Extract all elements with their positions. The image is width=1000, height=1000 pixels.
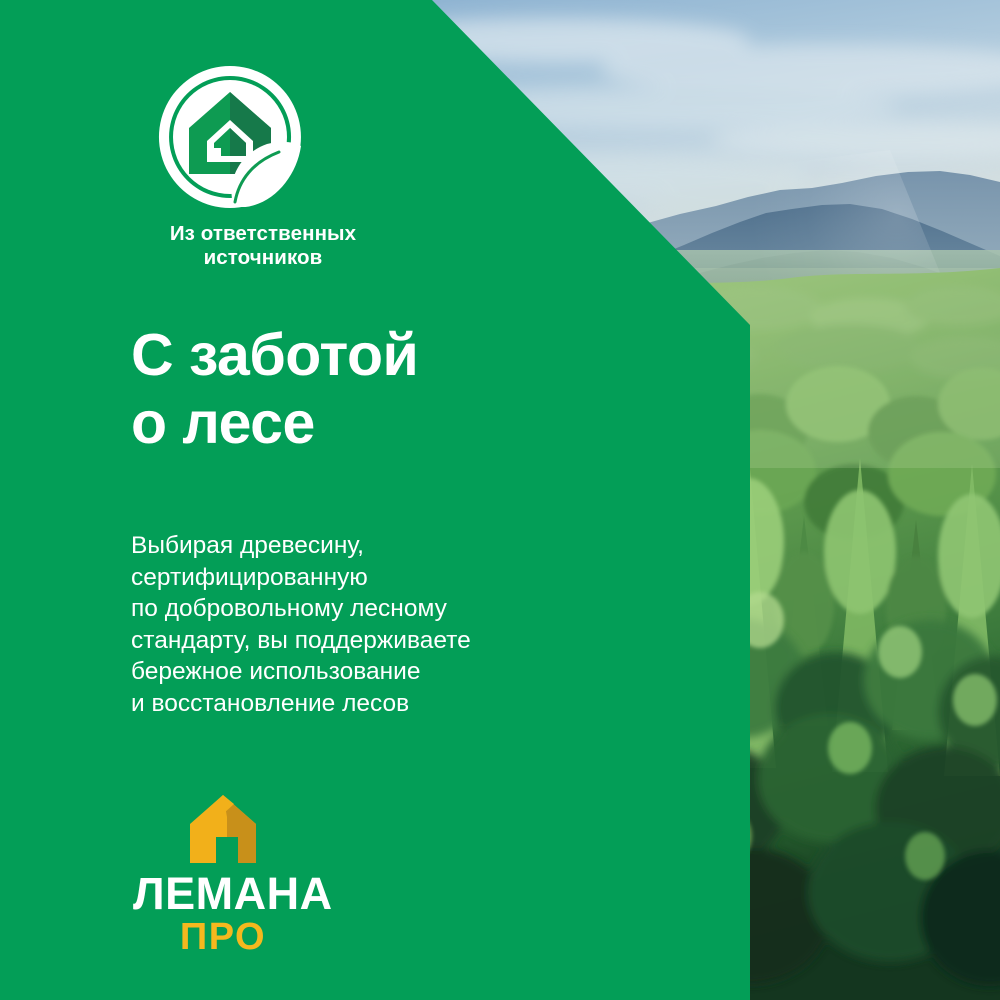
body-line-6: и восстановление лесов <box>131 688 471 720</box>
headline-line-1: С заботой <box>131 326 418 385</box>
page-title: С заботой о лесе <box>131 326 418 453</box>
responsible-sources-badge-icon <box>155 62 305 212</box>
brand-subname: ПРО <box>133 918 313 956</box>
body-line-5: бережное использование <box>131 656 471 688</box>
body-line-3: по добровольному лесному <box>131 593 471 625</box>
lemana-pro-logo: ЛЕМАНА ПРО <box>133 793 313 956</box>
headline-line-2: о лесе <box>131 394 418 453</box>
lemana-house-icon <box>186 793 260 865</box>
body-line-1: Выбирая древесину, <box>131 530 471 562</box>
poster-canvas: Из ответственных источников С заботой о … <box>0 0 1000 1000</box>
body-paragraph: Выбирая древесину, сертифицированную по … <box>131 530 471 720</box>
content-layer: Из ответственных источников С заботой о … <box>0 0 750 1000</box>
badge-caption: Из ответственных источников <box>128 222 398 270</box>
responsible-sources-badge: Из ответственных источников <box>128 62 398 270</box>
badge-caption-line-2: источников <box>128 246 398 270</box>
body-line-4: стандарту, вы поддерживаете <box>131 625 471 657</box>
body-line-2: сертифицированную <box>131 562 471 594</box>
badge-caption-line-1: Из ответственных <box>128 222 398 246</box>
brand-name: ЛЕМАНА <box>133 871 313 916</box>
